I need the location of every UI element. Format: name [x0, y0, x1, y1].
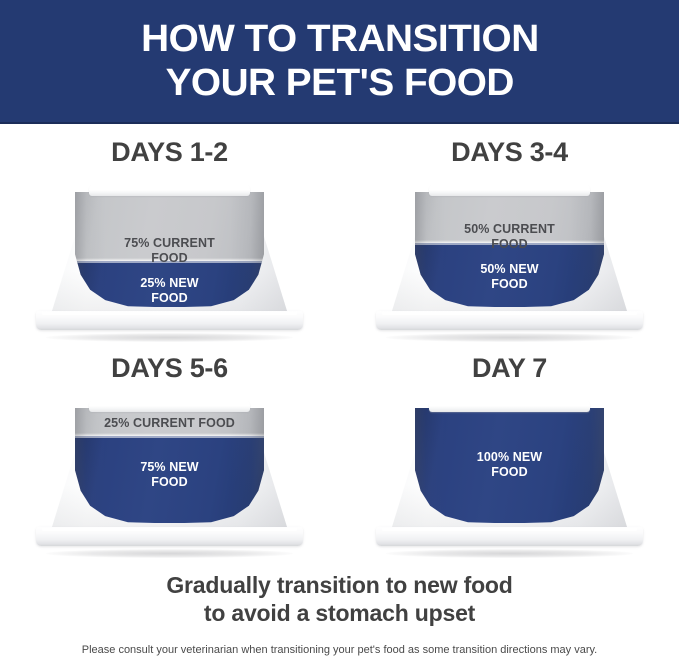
new-food-fill — [415, 243, 604, 307]
bowl-base-highlight — [382, 312, 637, 315]
bowl-base-highlight — [42, 528, 297, 531]
step-title: DAYS 1-2 — [0, 136, 339, 168]
bowl-shadow — [46, 333, 293, 342]
step-title: DAYS 3-4 — [340, 136, 679, 168]
bowl-rim-highlight — [96, 184, 243, 188]
transition-step-1: DAYS 1-2 75% CURRENT FOOD 25% NEW FOOD — [0, 136, 339, 351]
header-title-line-1: HOW TO TRANSITION — [141, 17, 539, 61]
transition-step-2: DAYS 3-4 50% CURRENT FOOD 50% NEW FOOD — [340, 136, 679, 351]
food-divider-line — [75, 261, 264, 263]
food-bowl: 25% CURRENT FOOD 75% NEW FOOD — [28, 399, 311, 559]
bowl-cavity: 100% NEW FOOD — [415, 408, 604, 523]
new-food-fill — [75, 436, 264, 523]
current-food-fill — [75, 408, 264, 436]
transition-step-3: DAYS 5-6 25% CURRENT FOOD 75% NEW FOOD — [0, 352, 339, 567]
current-food-fill — [415, 192, 604, 243]
step-title: DAYS 5-6 — [0, 352, 339, 384]
header-title-line-2: YOUR PET'S FOOD — [165, 61, 513, 105]
bowl-rim-highlight — [436, 184, 583, 188]
transition-steps-grid: DAYS 1-2 75% CURRENT FOOD 25% NEW FOOD D… — [0, 124, 679, 569]
food-bowl: 75% CURRENT FOOD 25% NEW FOOD — [28, 183, 311, 343]
food-divider-line — [415, 243, 604, 245]
bowl-base-highlight — [42, 312, 297, 315]
bowl-shadow — [386, 333, 633, 342]
bowl-cavity: 75% CURRENT FOOD 25% NEW FOOD — [75, 192, 264, 307]
footer: Gradually transition to new food to avoi… — [0, 571, 679, 657]
bowl-cavity: 25% CURRENT FOOD 75% NEW FOOD — [75, 408, 264, 523]
current-food-fill — [75, 192, 264, 261]
bowl-base-highlight — [382, 528, 637, 531]
step-title: DAY 7 — [340, 352, 679, 384]
footer-disclaimer: Please consult your veterinarian when tr… — [0, 643, 679, 657]
food-bowl: 100% NEW FOOD — [368, 399, 651, 559]
new-food-fill — [415, 408, 604, 523]
header-banner: HOW TO TRANSITION YOUR PET'S FOOD — [0, 0, 679, 124]
bowl-rim-highlight — [96, 400, 243, 404]
transition-step-4: DAY 7 100% NEW FOOD — [340, 352, 679, 567]
food-divider-line — [75, 436, 264, 438]
food-bowl: 50% CURRENT FOOD 50% NEW FOOD — [368, 183, 651, 343]
bowl-rim-highlight — [436, 400, 583, 404]
bowl-shadow — [46, 549, 293, 558]
bowl-cavity: 50% CURRENT FOOD 50% NEW FOOD — [415, 192, 604, 307]
footer-headline-line-1: Gradually transition to new food — [0, 571, 679, 599]
bowl-shadow — [386, 549, 633, 558]
footer-headline-line-2: to avoid a stomach upset — [0, 599, 679, 627]
